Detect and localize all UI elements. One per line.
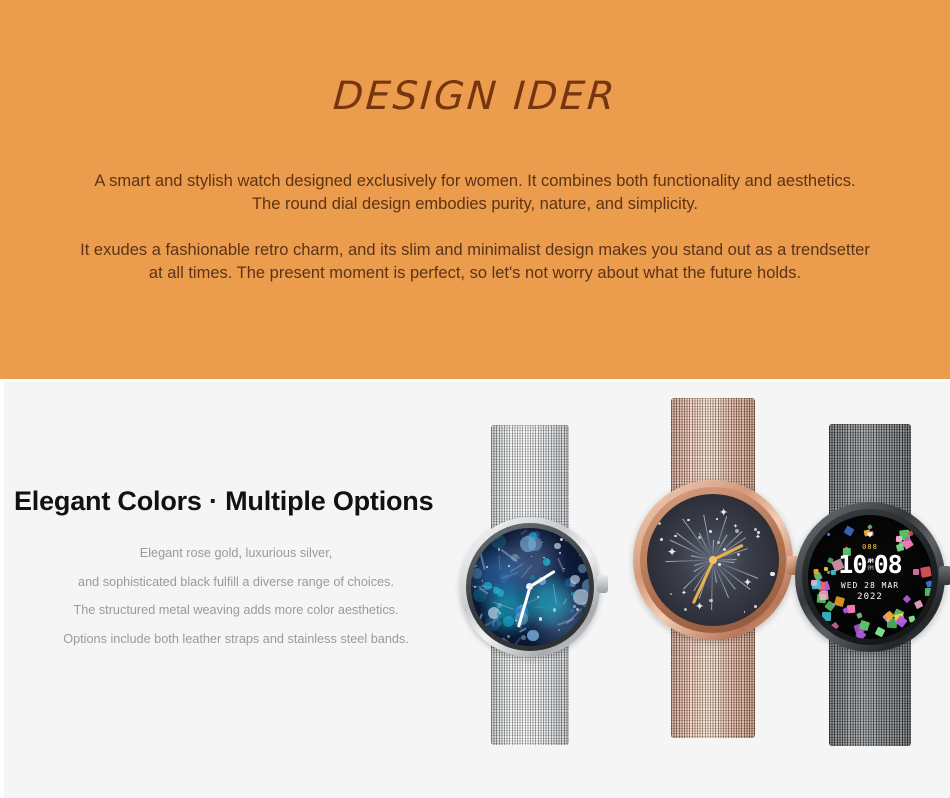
description-line-2: and sophisticated black fulfill a divers… xyxy=(26,568,446,597)
silver-watch-dial xyxy=(471,528,589,646)
hero-paragraph-1-line-1: A smart and stylish watch designed exclu… xyxy=(0,170,950,193)
rose-gold-watch-dial: ✦✦✦✦✦✦✦ xyxy=(647,494,779,626)
black-watch-image: ♥ 088 10 AM PM 08 WED 28 MAR 2022 xyxy=(789,424,950,746)
hero-title: DESIGN IDER xyxy=(0,74,950,119)
black-watch-time-readout: 10 AM PM 08 xyxy=(838,552,901,577)
black-watch-date: WED 28 MAR xyxy=(841,581,899,590)
design-idea-hero-section: DESIGN IDER A smart and stylish watch de… xyxy=(0,0,950,379)
rose-gold-watch-image: ✦✦✦✦✦✦✦ xyxy=(627,398,799,738)
black-watch-dial: ♥ 088 10 AM PM 08 WED 28 MAR 2022 xyxy=(808,515,932,639)
black-watch-digital-face: ♥ 088 10 AM PM 08 WED 28 MAR 2022 xyxy=(808,515,932,639)
silver-watch-image xyxy=(452,425,608,745)
description-line-1: Elegant rose gold, luxurious silver, xyxy=(26,539,446,568)
hero-paragraph-2-line-1: It exudes a fashionable retro charm, and… xyxy=(0,239,950,262)
hero-paragraph-1: A smart and stylish watch designed exclu… xyxy=(0,170,950,216)
black-watch-band-bottom xyxy=(829,638,911,746)
black-watch-crown xyxy=(939,566,950,585)
rose-gold-watch-band-bottom xyxy=(671,624,755,738)
black-watch-hours: 10 xyxy=(838,552,866,577)
black-watch-minutes: 08 xyxy=(874,552,902,577)
hero-paragraph-1-line-2: The round dial design embodies purity, n… xyxy=(0,193,950,216)
section-heading: Elegant Colors · Multiple Options xyxy=(14,486,433,517)
hero-paragraph-2-line-2: at all times. The present moment is perf… xyxy=(0,262,950,285)
product-detail-page: DESIGN IDER A smart and stylish watch de… xyxy=(0,0,950,798)
hero-paragraph-2: It exudes a fashionable retro charm, and… xyxy=(0,239,950,285)
description-line-3: The structured metal weaving adds more c… xyxy=(26,596,446,625)
silver-watch-pivot xyxy=(526,583,533,590)
section-description: Elegant rose gold, luxurious silver, and… xyxy=(26,539,446,653)
description-line-4: Options include both leather straps and … xyxy=(26,625,446,654)
rose-gold-watch-pivot xyxy=(709,556,717,564)
heart-icon: ♥ xyxy=(867,532,872,541)
black-watch-ampm-indicator: AM PM xyxy=(867,558,872,572)
silver-watch-crown xyxy=(597,575,608,593)
black-watch-pm-label: PM xyxy=(867,565,872,572)
black-watch-year: 2022 xyxy=(857,592,883,602)
black-watch-am-label: AM xyxy=(867,558,872,565)
